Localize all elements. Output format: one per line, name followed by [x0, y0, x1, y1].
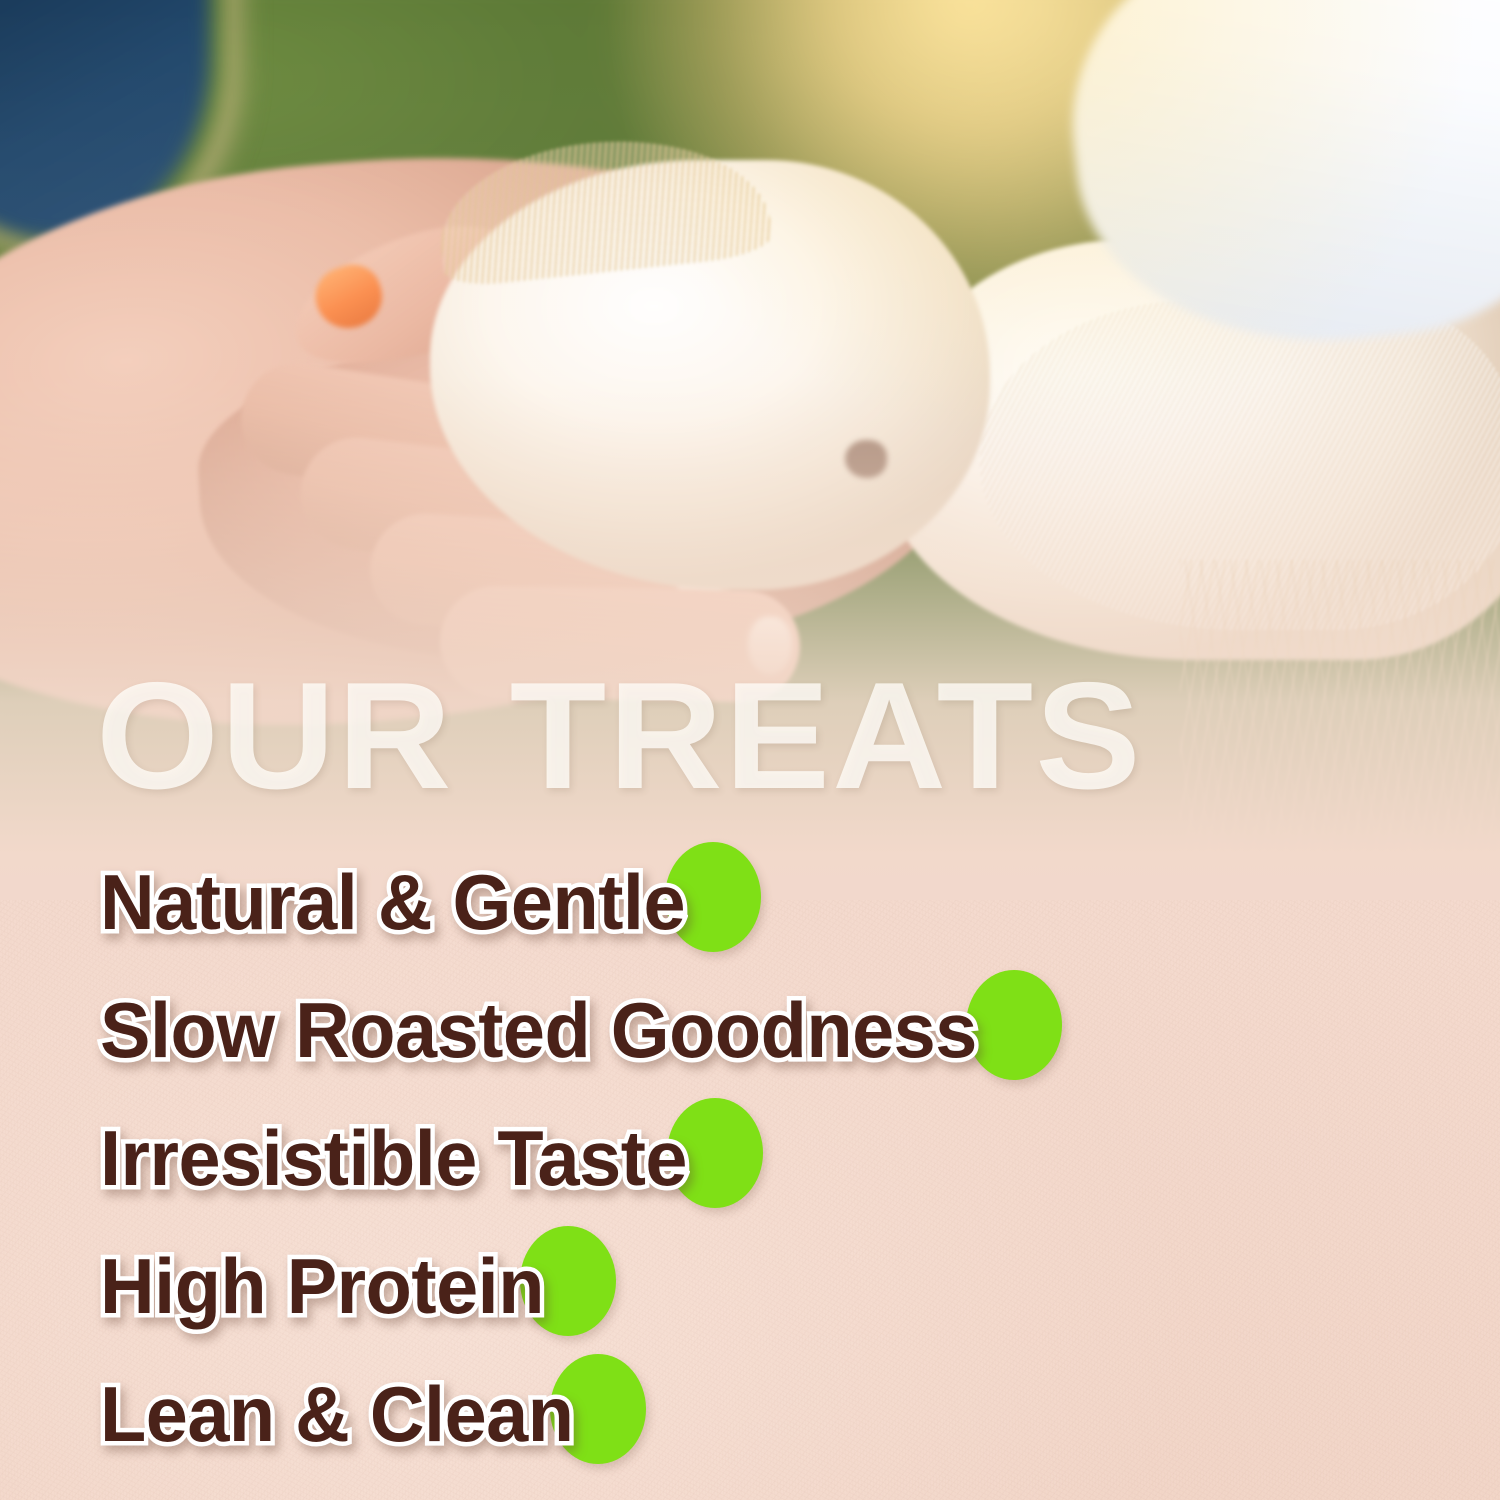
- list-item: Irresistible Taste: [0, 1094, 1500, 1222]
- feature-label: Slow Roasted Goodness: [100, 991, 977, 1069]
- list-item: High Protein: [0, 1222, 1500, 1350]
- product-feature-poster: OURTREATS Natural & Gentle Slow Roasted …: [0, 0, 1500, 1500]
- page-title: OURTREATS: [96, 660, 1143, 812]
- feature-item-wrapper: Lean & Clean: [100, 1375, 588, 1453]
- feature-list: Natural & Gentle Slow Roasted Goodness I…: [0, 838, 1500, 1478]
- list-item: Natural & Gentle: [0, 838, 1500, 966]
- feature-item-wrapper: Natural & Gentle: [100, 863, 703, 941]
- list-item: Lean & Clean: [0, 1350, 1500, 1478]
- feature-label: Lean & Clean: [100, 1375, 573, 1453]
- headline-word-treats: TREATS: [510, 651, 1143, 821]
- headline-word-our: OUR: [96, 651, 454, 821]
- list-item: Slow Roasted Goodness: [0, 966, 1500, 1094]
- feature-label: Natural & Gentle: [100, 863, 685, 941]
- feature-label: Irresistible Taste: [100, 1119, 687, 1197]
- feature-label: High Protein: [100, 1247, 544, 1325]
- green-circle-bullet-icon: [966, 970, 1062, 1080]
- feature-item-wrapper: Irresistible Taste: [100, 1119, 705, 1197]
- feature-item-wrapper: High Protein: [100, 1247, 558, 1325]
- feature-item-wrapper: Slow Roasted Goodness: [100, 991, 1004, 1069]
